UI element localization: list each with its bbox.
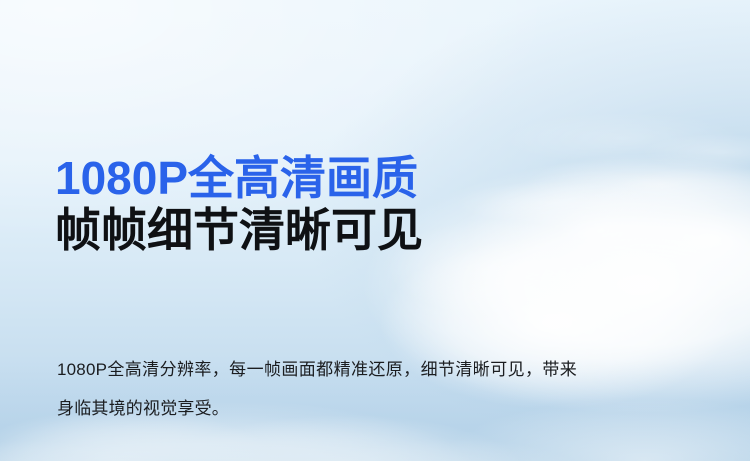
feature-description: 1080P全高清分辨率，每一帧画面都精准还原，细节清晰可见，带来身临其境的视觉享… (57, 350, 577, 428)
headline-line-secondary: 帧帧细节清晰可见 (55, 204, 655, 256)
headline-block: 1080P全高清画质 帧帧细节清晰可见 (55, 152, 655, 256)
product-feature-banner: 1080P全高清画质 帧帧细节清晰可见 1080P全高清分辨率，每一帧画面都精准… (0, 0, 750, 461)
banner-content: 1080P全高清画质 帧帧细节清晰可见 1080P全高清分辨率，每一帧画面都精准… (55, 0, 695, 461)
headline-line-primary: 1080P全高清画质 (55, 152, 655, 204)
